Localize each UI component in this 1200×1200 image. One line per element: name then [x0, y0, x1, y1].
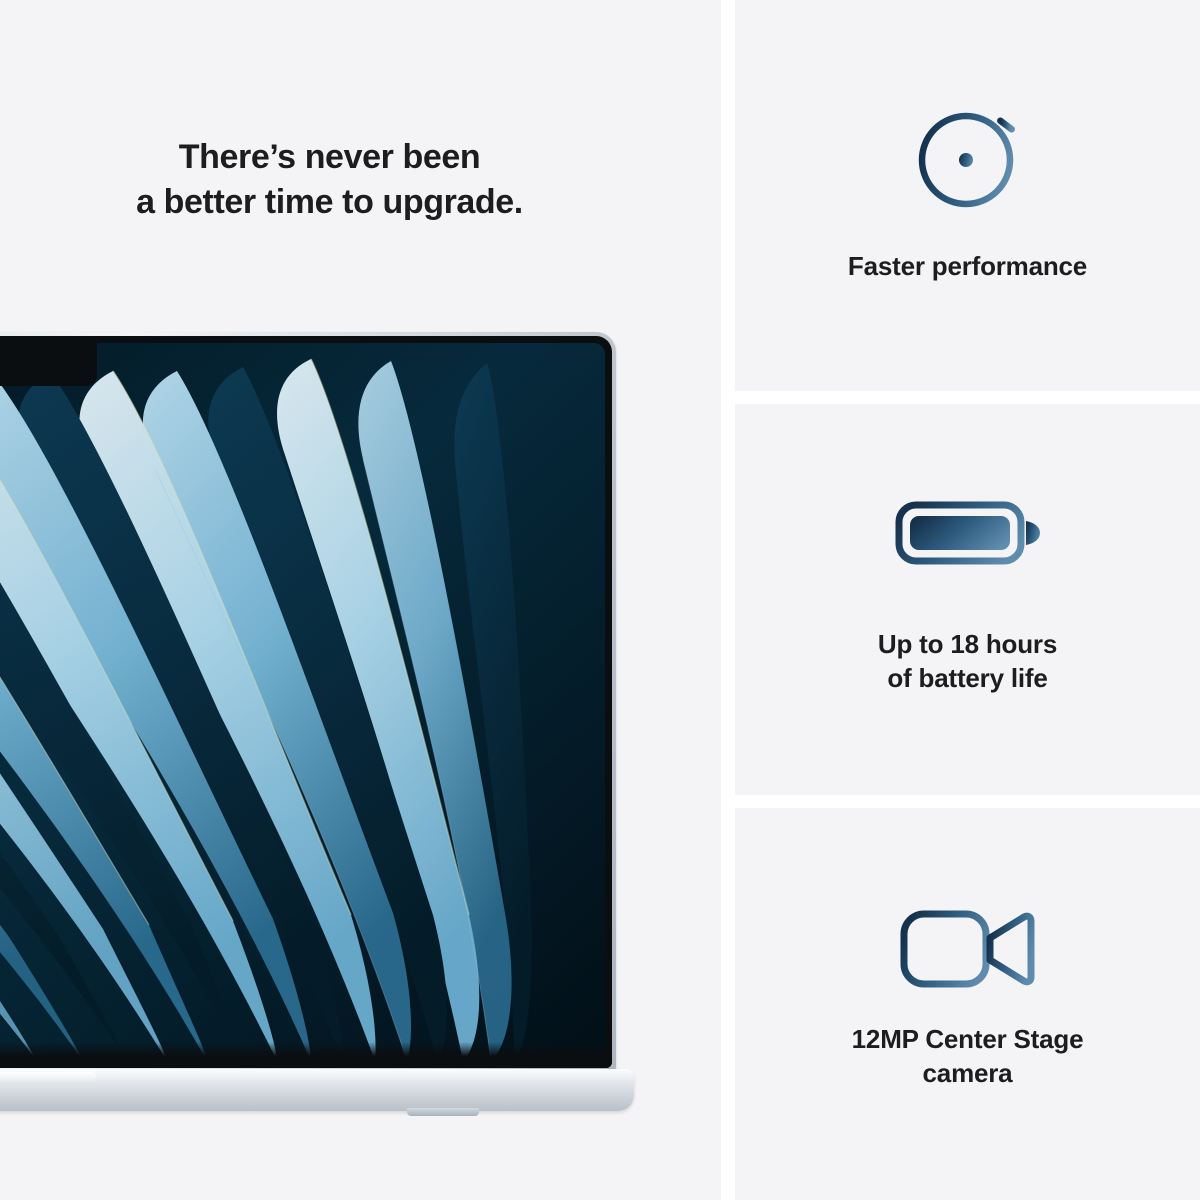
wallpaper [0, 343, 605, 1061]
feature-label: Up to 18 hours of battery life [735, 628, 1200, 696]
macbook-foot [407, 1108, 479, 1116]
video-camera-icon [735, 893, 1200, 1003]
macbook-product-image [0, 332, 616, 1132]
hero-panel: There’s never been a better time to upgr… [0, 0, 721, 1200]
video-camera-icon-svg [898, 898, 1038, 998]
macbook-lid [0, 332, 616, 1079]
feature-card-faster-performance: Faster performance [735, 0, 1200, 391]
macbook-screen [0, 343, 605, 1061]
battery-icon-svg [893, 483, 1043, 579]
macbook-bezel [0, 336, 612, 1068]
stopwatch-icon-svg [906, 88, 1030, 212]
feature-card-battery-life: Up to 18 hours of battery life [735, 404, 1200, 795]
feature-label: Faster performance [735, 250, 1200, 284]
feature-card-center-stage-camera: 12MP Center Stage camera [735, 808, 1200, 1200]
macbook-base-highlight [0, 1072, 96, 1081]
battery-icon [735, 476, 1200, 586]
wallpaper-ribbons [0, 343, 605, 1061]
macbook-notch [0, 343, 97, 386]
stopwatch-icon [735, 88, 1200, 212]
page-title: There’s never been a better time to upgr… [0, 135, 721, 225]
product-feature-layout: There’s never been a better time to upgr… [0, 0, 1200, 1200]
screen-bottom-shadow [0, 1042, 612, 1068]
feature-label: 12MP Center Stage camera [735, 1023, 1200, 1091]
feature-column: Faster performance U [735, 0, 1200, 1200]
